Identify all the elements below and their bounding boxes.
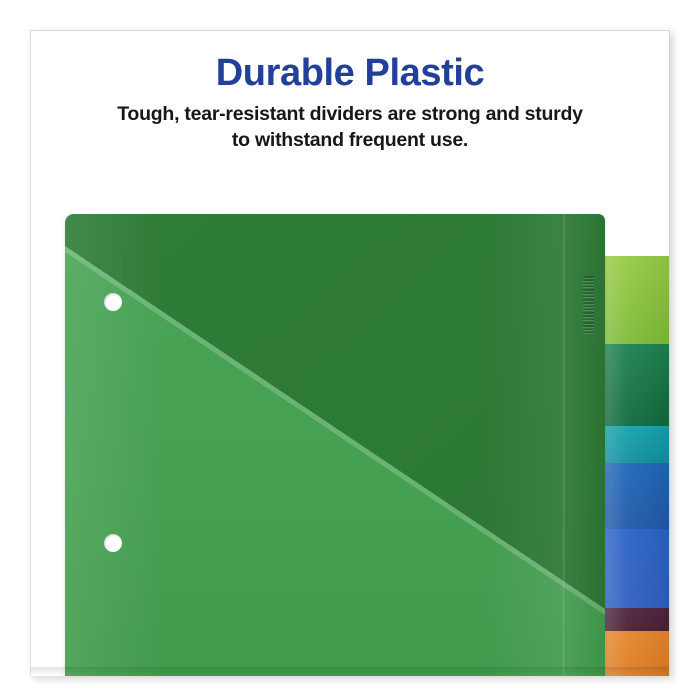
page-title: Durable Plastic bbox=[31, 31, 669, 93]
tab-sheen bbox=[602, 426, 669, 463]
reinforced-edge-texture bbox=[583, 276, 594, 338]
product-info-card: Durable Plastic Tough, tear-resistant di… bbox=[30, 30, 670, 676]
tab-purple bbox=[602, 608, 669, 631]
tab-sheen bbox=[602, 608, 669, 631]
subheading-line-2: to withstand frequent use. bbox=[31, 128, 669, 154]
tab-sheen bbox=[602, 256, 669, 344]
index-tab-stack bbox=[602, 181, 669, 676]
punch-hole-top bbox=[104, 293, 122, 311]
tab-dark-green bbox=[602, 344, 669, 426]
tab-sheen bbox=[602, 529, 669, 608]
headline-block: Durable Plastic Tough, tear-resistant di… bbox=[31, 31, 669, 154]
tab-blue bbox=[602, 463, 669, 529]
tab-royal-blue bbox=[602, 529, 669, 608]
plastic-divider-sheet bbox=[65, 214, 605, 676]
card-bottom-shadow bbox=[31, 667, 669, 676]
tab-light-green bbox=[602, 256, 669, 344]
punch-hole-bottom bbox=[104, 534, 122, 552]
tab-teal bbox=[602, 426, 669, 463]
product-image-canvas: Durable Plastic Tough, tear-resistant di… bbox=[0, 0, 700, 700]
sheet-crease bbox=[563, 214, 566, 676]
product-photo bbox=[31, 181, 669, 676]
subheading-line-1: Tough, tear-resistant dividers are stron… bbox=[31, 93, 669, 128]
tab-sheen bbox=[602, 463, 669, 529]
tab-sheen bbox=[602, 344, 669, 426]
